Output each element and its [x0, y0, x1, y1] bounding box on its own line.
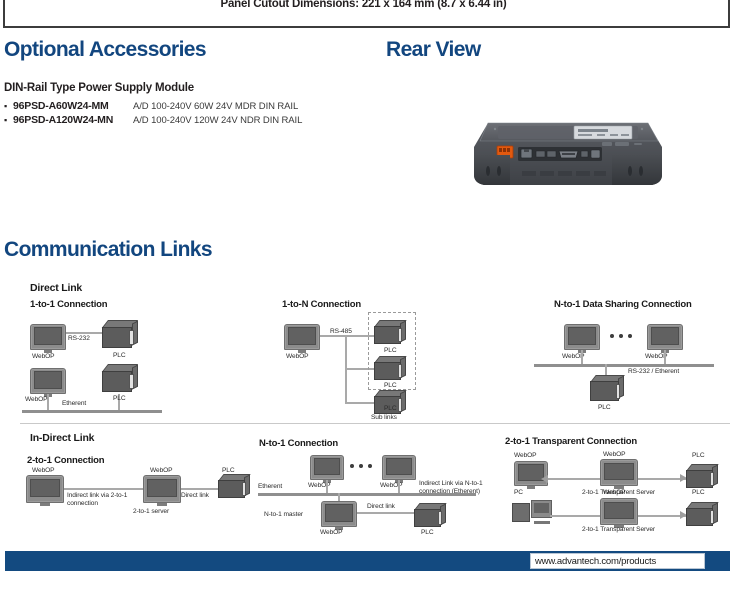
label-n-to-1-master: N-to-1 master: [264, 511, 303, 518]
link-wire: [64, 488, 144, 490]
label-link-rs232: RS-232: [68, 335, 90, 342]
network-bus-line: [22, 410, 162, 413]
label-bus-ethernet: Etherent: [258, 483, 282, 490]
bus-drop-wire: [326, 480, 328, 494]
label-sub-links: Sub links: [371, 414, 397, 421]
device-plc: [374, 320, 406, 346]
device-webop-monitor: [600, 498, 638, 525]
device-webop-monitor: [284, 324, 320, 350]
subtitle-1-to-n-connection: 1-to-N Connection: [282, 299, 361, 310]
page-title-rear-view: Rear View: [386, 38, 481, 62]
arrow-left-icon: [541, 475, 548, 483]
subtitle-2-to-1-transparent: 2-to-1 Transparent Connection: [505, 436, 637, 447]
list-item: ▪ 96PSD-A60W24-MM A/D 100-240V 60W 24V M…: [4, 99, 344, 113]
network-bus-line: [258, 493, 476, 496]
device-webop-monitor: [600, 459, 638, 486]
label-plc: PLC: [384, 347, 397, 354]
accessory-description: A/D 100-240V 120W 24V NDR DIN RAIL: [133, 114, 302, 128]
device-webop-monitor: [30, 368, 66, 394]
link-wire: [320, 335, 375, 337]
link-wire: [181, 488, 221, 490]
label-plc: PLC: [692, 489, 705, 496]
group-title-indirect-link: In-Direct Link: [30, 432, 94, 444]
link-wire: [66, 332, 104, 334]
label-webop: WebOP: [603, 489, 625, 496]
device-plc: [414, 503, 446, 529]
device-plc: [102, 320, 138, 350]
list-item: ▪ 96PSD-A120W24-MN A/D 100-240V 120W 24V…: [4, 113, 344, 127]
label-link-ethernet: Etherent: [62, 400, 86, 407]
label-webop: WebOP: [286, 353, 308, 360]
device-webop-monitor: [30, 324, 66, 350]
label-webop: WebOP: [320, 529, 342, 536]
page-title-optional-accessories: Optional Accessories: [4, 38, 206, 62]
accessories-subtitle: DIN-Rail Type Power Supply Module: [4, 82, 194, 94]
subtitle-n-to-1-connection: N-to-1 Connection: [259, 438, 338, 449]
group-title-direct-link: Direct Link: [30, 282, 82, 294]
label-plc: PLC: [421, 529, 434, 536]
label-plc: PLC: [384, 405, 397, 412]
communication-links-diagrams: Direct Link 1-to-1 Connection RS-232 Web…: [0, 272, 750, 540]
ellipsis-dots-icon: [610, 334, 632, 338]
label-plc: PLC: [113, 352, 126, 359]
bus-drop-wire: [398, 480, 400, 494]
device-webop-monitor: [321, 501, 357, 527]
device-webop-monitor: [382, 455, 416, 480]
label-plc: PLC: [113, 395, 126, 402]
label-bus-rs232-ethernet: RS-232 / Etherent: [628, 368, 679, 375]
branch-wire: [345, 402, 375, 404]
label-transparent-server: 2-to-1 Transparent Server: [582, 526, 655, 533]
label-plc: PLC: [384, 382, 397, 389]
label-webop: WebOP: [25, 396, 47, 403]
accessory-part-number: 96PSD-A60W24-MM: [13, 99, 133, 113]
device-plc: [590, 375, 624, 403]
diagram-divider: [20, 423, 730, 424]
accessory-part-number: 96PSD-A120W24-MN: [13, 113, 133, 127]
accessory-description: A/D 100-240V 60W 24V MDR DIN RAIL: [133, 100, 298, 114]
device-plc: [218, 474, 250, 500]
panel-cutout-title: Panel Cutout Dimensions: 221 x 164 mm (8…: [0, 0, 727, 10]
device-plc: [374, 356, 406, 382]
device-webop-monitor: [26, 475, 64, 503]
label-webop: WebOP: [32, 467, 54, 474]
subtitle-n-to-1-data-sharing: N-to-1 Data Sharing Connection: [554, 299, 692, 310]
device-plc: [102, 364, 138, 394]
link-wire: [550, 515, 602, 517]
device-webop-monitor: [143, 475, 181, 503]
label-plc: PLC: [692, 452, 705, 459]
accessories-list: ▪ 96PSD-A60W24-MM A/D 100-240V 60W 24V M…: [4, 99, 344, 127]
bus-drop-wire: [664, 350, 666, 365]
label-indirect-link-note: Indirect link via 2-to-1 connection: [67, 492, 141, 509]
rear-view-product-image: [452, 105, 682, 205]
datasheet-page: Panel Cutout Dimensions: 221 x 164 mm (8…: [0, 0, 750, 591]
label-webop: WebOP: [150, 467, 172, 474]
label-webop: WebOP: [32, 353, 54, 360]
bullet-icon: ▪: [4, 113, 13, 127]
label-webop: WebOP: [603, 451, 625, 458]
label-link-rs485: RS-485: [330, 328, 352, 335]
device-plc: [686, 464, 718, 490]
ellipsis-dots-icon: [350, 464, 372, 468]
label-plc: PLC: [222, 467, 235, 474]
network-bus-line: [534, 364, 714, 367]
footer-url-link[interactable]: www.advantech.com/products: [535, 556, 656, 567]
device-webop-monitor: [564, 324, 600, 350]
link-wire: [357, 512, 417, 514]
link-wire: [548, 478, 602, 480]
bullet-icon: ▪: [4, 99, 13, 113]
label-plc: PLC: [598, 404, 611, 411]
label-pc: PC: [514, 489, 523, 496]
label-2-to-1-server: 2-to-1 server: [133, 508, 169, 515]
label-webop: WebOP: [514, 452, 536, 459]
bus-drop-wire: [581, 350, 583, 365]
device-pc-tower: [512, 498, 552, 524]
subtitle-2-to-1-connection: 2-to-1 Connection: [27, 455, 104, 466]
device-webop-monitor: [310, 455, 344, 480]
label-direct-link: Direct link: [367, 503, 395, 510]
subtitle-1-to-1-connection: 1-to-1 Connection: [30, 299, 107, 310]
device-webop-monitor: [647, 324, 683, 350]
page-title-communication-links: Communication Links: [4, 238, 212, 262]
label-direct-link: Direct link: [181, 492, 209, 499]
device-plc: [686, 502, 718, 528]
device-plc: [374, 390, 406, 416]
